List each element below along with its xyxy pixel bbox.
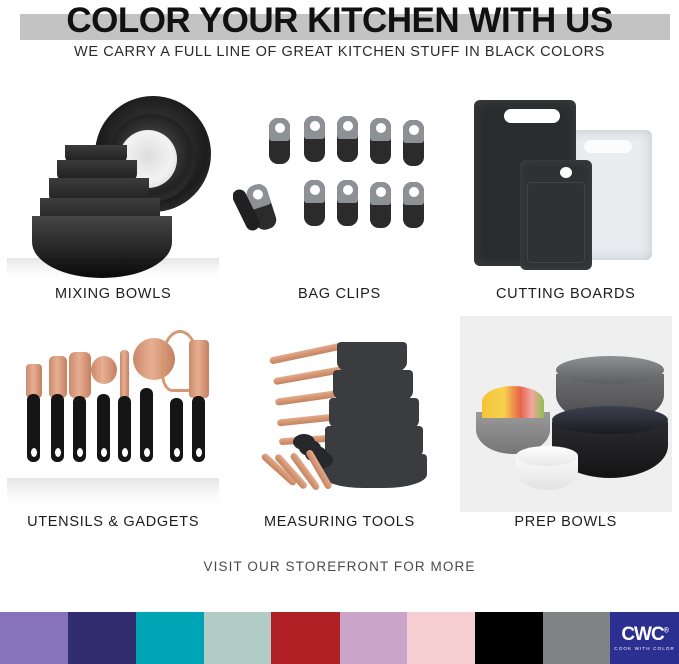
caption-mixing-bowls: MIXING BOWLS xyxy=(55,286,171,302)
product-cell-bag-clips[interactable]: BAG CLIPS xyxy=(226,88,452,302)
swatch-light-pink xyxy=(407,612,475,664)
storefront-note: VISIT OUR STOREFRONT FOR MORE xyxy=(0,559,679,574)
product-row-1: MIXING BOWLS BAG CLIPS xyxy=(0,88,679,302)
utensil-head-spoon xyxy=(91,356,117,384)
page-subtitle: WE CARRY A FULL LINE OF GREAT KITCHEN ST… xyxy=(0,44,679,60)
swatch-purple xyxy=(0,612,68,664)
surface-reflection xyxy=(7,478,219,512)
measuring-tools-image xyxy=(233,316,445,512)
logo-tagline: COOK WITH COLOR xyxy=(614,646,675,651)
bag-clip xyxy=(337,116,358,162)
swatch-teal xyxy=(136,612,204,664)
logo-mark-text: CWC xyxy=(621,624,663,645)
registered-mark: ® xyxy=(664,628,668,635)
bag-clip xyxy=(304,180,325,226)
swatch-gray xyxy=(543,612,610,664)
caption-bag-clips: BAG CLIPS xyxy=(298,286,381,302)
prep-bowls-image xyxy=(460,316,672,512)
product-cell-mixing-bowls[interactable]: MIXING BOWLS xyxy=(0,88,226,302)
bag-clip xyxy=(337,180,358,226)
utensil-head-grater xyxy=(189,340,209,398)
prep-bowl-lid-black xyxy=(552,406,668,434)
utensil-handle xyxy=(73,396,86,462)
measuring-cup xyxy=(321,454,427,488)
utensil-handle xyxy=(97,394,110,462)
swatch-black xyxy=(475,612,543,664)
bag-clip xyxy=(304,116,325,162)
utensil-head-masher xyxy=(26,364,42,398)
caption-prep-bowls: PREP BOWLS xyxy=(514,514,617,530)
utensil-head-opener xyxy=(49,356,67,398)
caption-measuring-tools: MEASURING TOOLS xyxy=(264,514,415,530)
utensil-handle xyxy=(51,394,64,462)
bag-clip xyxy=(370,118,391,164)
cutting-board-medium-dark xyxy=(520,160,592,270)
prep-bowl-lid-gray xyxy=(556,356,664,384)
product-cell-utensils-gadgets[interactable]: UTENSILS & GADGETS xyxy=(0,316,226,530)
bag-clips-image xyxy=(233,88,445,284)
bag-clip xyxy=(403,120,424,166)
utensil-handle xyxy=(192,396,205,462)
utensil-handle xyxy=(27,394,40,462)
product-cell-prep-bowls[interactable]: PREP BOWLS xyxy=(453,316,679,530)
swatch-sage xyxy=(204,612,271,664)
swatch-red xyxy=(271,612,340,664)
utensil-handle xyxy=(140,388,153,462)
brand-logo: CWC® COOK WITH COLOR xyxy=(610,612,679,664)
caption-cutting-boards: CUTTING BOARDS xyxy=(496,286,636,302)
utensil-head-peeler xyxy=(69,352,91,398)
fruit-pile xyxy=(482,386,544,418)
caption-utensils-gadgets: UTENSILS & GADGETS xyxy=(27,514,199,530)
product-cell-measuring-tools[interactable]: MEASURING TOOLS xyxy=(226,316,452,530)
bag-clip xyxy=(370,182,391,228)
product-cell-cutting-boards[interactable]: CUTTING BOARDS xyxy=(453,88,679,302)
banner-header: COLOR YOUR KITCHEN WITH US WE CARRY A FU… xyxy=(0,0,679,58)
page-title: COLOR YOUR KITCHEN WITH US xyxy=(0,0,679,42)
swatch-navy xyxy=(68,612,136,664)
mixing-bowls-image xyxy=(7,88,219,284)
prep-bowl-lid-white xyxy=(516,446,578,466)
product-banner: COLOR YOUR KITCHEN WITH US WE CARRY A FU… xyxy=(0,0,679,664)
color-swatch-bar: CWC® COOK WITH COLOR xyxy=(0,612,679,664)
swatch-lilac xyxy=(340,612,408,664)
bag-clip xyxy=(403,182,424,228)
surface-reflection xyxy=(7,258,219,284)
utensil-handle xyxy=(170,398,183,462)
product-grid: MIXING BOWLS BAG CLIPS xyxy=(0,88,679,530)
measuring-cup-handle xyxy=(270,342,344,364)
logo-wordmark: CWC® xyxy=(621,625,668,644)
bag-clip xyxy=(269,118,290,164)
cutting-boards-image xyxy=(460,88,672,284)
utensil-head-knife xyxy=(120,350,129,400)
utensils-image xyxy=(7,316,219,512)
product-row-2: UTENSILS & GADGETS xyxy=(0,316,679,530)
utensil-handle xyxy=(118,396,131,462)
